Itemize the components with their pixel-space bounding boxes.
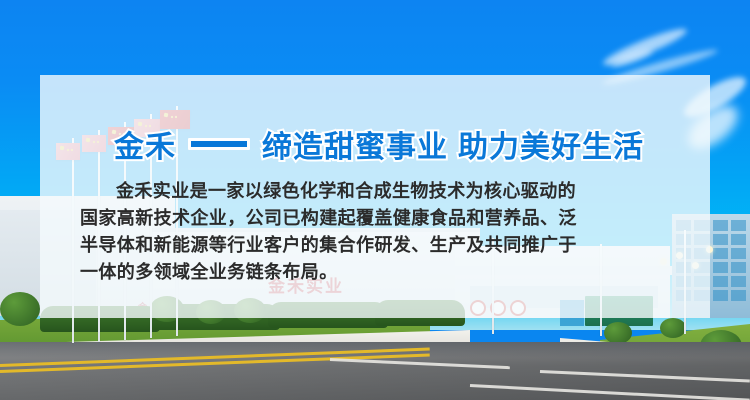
promotional-banner: 金禾实业 金禾实业 JINHE INDUSTRY CO.,LTD xyxy=(0,0,750,400)
text-overlay-panel: 金禾 缔造甜蜜事业 助力美好生活 金禾实业是一家以绿色化学和合成生物技术为核心驱… xyxy=(40,75,710,318)
body-line-4: 一体的多领域全业务链条布局。 xyxy=(80,259,680,286)
body-line-2: 国家高新技术企业，公司已构建起覆盖健康食品和营养品、泛 xyxy=(80,205,680,232)
shrub xyxy=(660,318,686,338)
shrub xyxy=(604,322,632,344)
headline-slogan-part2: 助力美好生活 xyxy=(458,122,644,166)
headline-slogan-part1: 缔造甜蜜事业 xyxy=(262,122,448,166)
body-line-3: 半导体和新能源等行业客户的集合作研发、生产及共同推广于 xyxy=(80,232,680,259)
body-paragraph: 金禾实业是一家以绿色化学和合成生物技术为核心驱动的 国家高新技术企业，公司已构建… xyxy=(80,178,680,286)
body-line-1: 金禾实业是一家以绿色化学和合成生物技术为核心驱动的 xyxy=(80,178,680,205)
headline-dash-rule xyxy=(188,138,250,150)
headline: 金禾 缔造甜蜜事业 助力美好生活 xyxy=(114,122,644,166)
headline-brand: 金禾 xyxy=(114,122,176,166)
shrub xyxy=(0,292,40,326)
